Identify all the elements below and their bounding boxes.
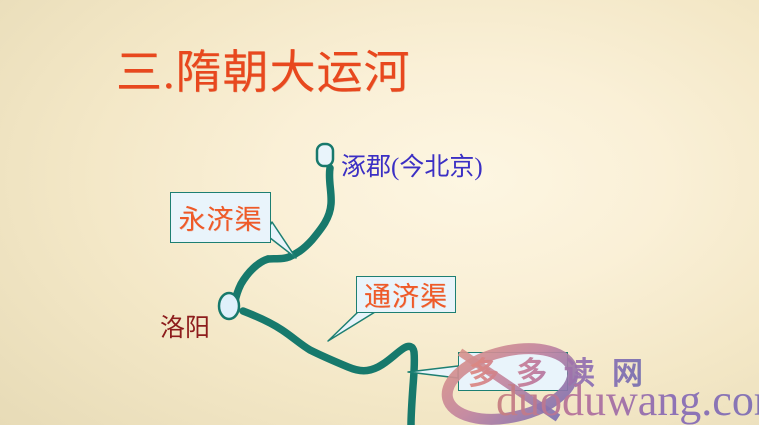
slide-canvas: 三.隋朝大运河 涿郡(今北京) 洛阳 永济渠 通济渠 — [0, 0, 759, 425]
city-marker-zhuojun — [317, 144, 333, 166]
city-label-luoyang: 洛阳 — [160, 308, 210, 344]
canal-path-tongji — [243, 311, 414, 425]
city-label-zhuojun: 涿郡(今北京) — [341, 147, 483, 183]
canal-path-luoyang-branch — [235, 259, 268, 302]
callout-obscured — [458, 352, 568, 391]
callout-yongji-canal: 永济渠 — [170, 192, 271, 243]
callout-yongji-label: 永济渠 — [179, 198, 263, 237]
callout-tail-tongji — [328, 312, 375, 341]
callout-tongji-label: 通济渠 — [364, 275, 448, 314]
city-marker-luoyang — [219, 293, 239, 319]
callout-tongji-canal: 通济渠 — [356, 276, 456, 313]
canal-map — [0, 0, 759, 425]
canal-path-yongji — [268, 168, 331, 259]
